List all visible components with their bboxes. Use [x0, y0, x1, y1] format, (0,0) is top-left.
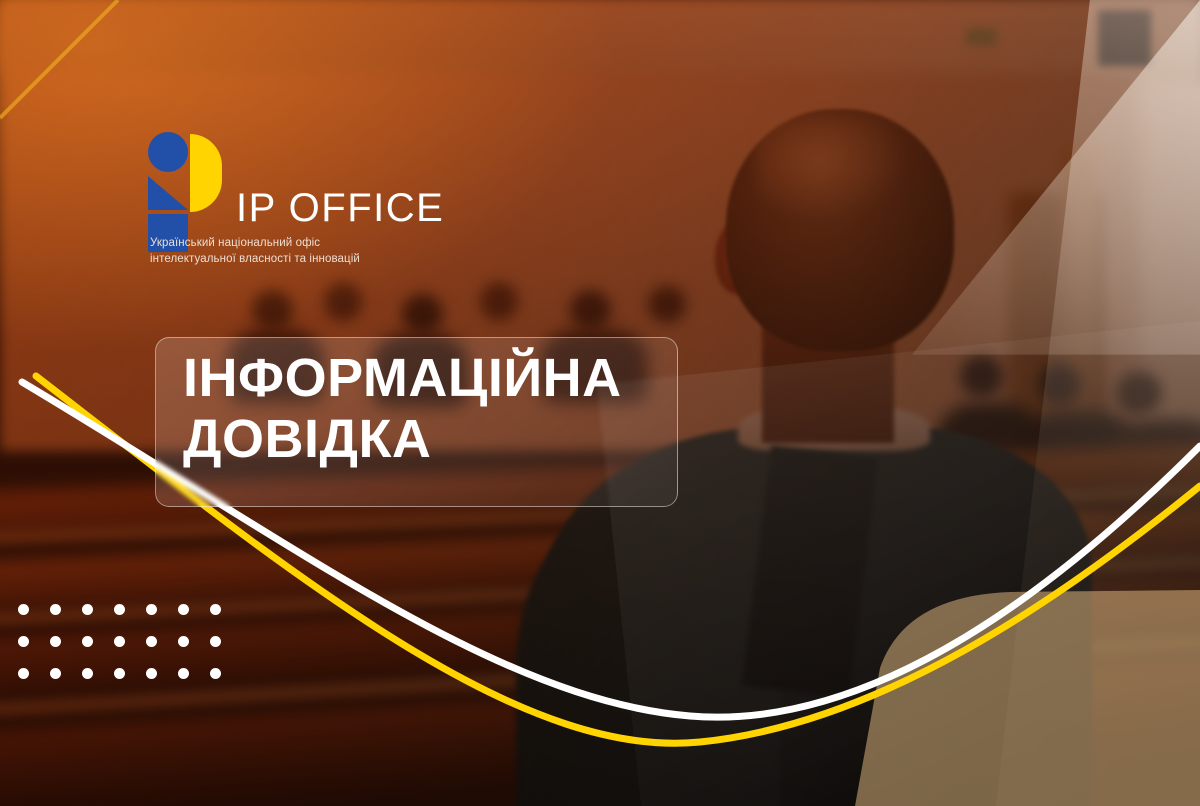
triangle-icon — [148, 176, 188, 210]
logo-subtitle-line-2: інтелектуальної власності та інновацій — [150, 252, 360, 268]
dot — [50, 604, 61, 615]
dot — [50, 668, 61, 679]
dot — [146, 636, 157, 647]
logo-mark — [148, 132, 208, 222]
page-title: ІНФОРМАЦІЙНА ДОВІДКА — [183, 348, 683, 470]
dot — [178, 604, 189, 615]
title-line-1: ІНФОРМАЦІЙНА — [183, 348, 683, 409]
dot — [18, 636, 29, 647]
dot — [210, 604, 221, 615]
dot — [18, 604, 29, 615]
circle-icon — [148, 132, 188, 172]
dot — [114, 636, 125, 647]
logo-wordmark: IP OFFICE — [236, 188, 444, 228]
dot — [210, 668, 221, 679]
dot — [178, 636, 189, 647]
dot — [114, 604, 125, 615]
dot — [18, 668, 29, 679]
banner-canvas: IP OFFICE Український національний офіс … — [0, 0, 1200, 806]
dot — [210, 636, 221, 647]
corner-line-yellow — [0, 0, 118, 118]
dot — [114, 668, 125, 679]
dot — [178, 668, 189, 679]
rounded-panel-shape — [855, 590, 1200, 806]
title-line-2: ДОВІДКА — [183, 409, 683, 470]
dot — [146, 604, 157, 615]
dot — [50, 636, 61, 647]
logo-subtitle: Український національний офіс інтелектуа… — [150, 236, 360, 267]
dot — [82, 604, 93, 615]
dot — [146, 668, 157, 679]
dot — [82, 636, 93, 647]
dot — [82, 668, 93, 679]
ip-office-logo[interactable]: IP OFFICE Український національний офіс … — [148, 132, 208, 222]
logo-subtitle-line-1: Український національний офіс — [150, 236, 360, 252]
